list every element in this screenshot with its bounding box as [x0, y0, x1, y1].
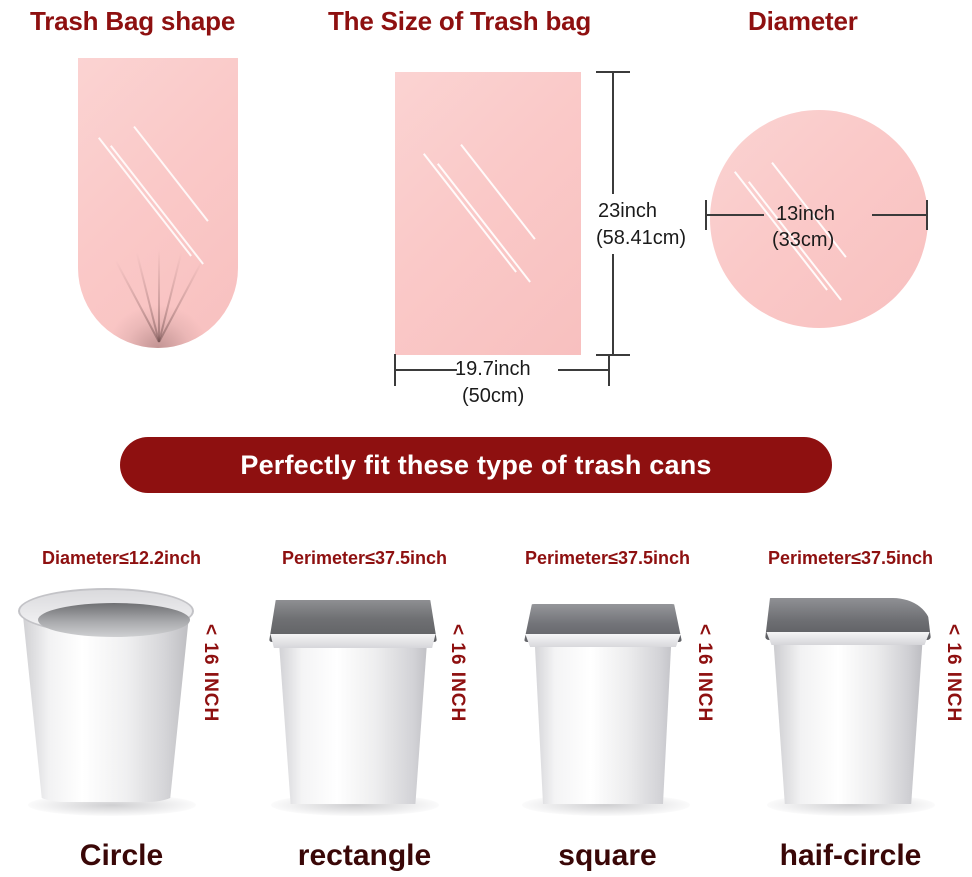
width-dimension-inch-label: 19.7inch	[455, 358, 531, 381]
can-circle-name: Circle	[0, 839, 243, 873]
diameter-dimension-line-left	[706, 214, 764, 216]
can-square-illustration	[506, 582, 706, 812]
width-dimension-cm-label: (50cm)	[462, 385, 524, 408]
can-column-circle: Diameter≤12.2inch < 16 INCH Circle	[0, 548, 243, 877]
can-column-rectangle: Perimeter≤37.5inch < 16 INCH rectangle	[243, 548, 486, 877]
height-dimension-tick-top	[596, 71, 630, 73]
can-half-circle-body	[769, 622, 927, 804]
heading-size-of-trash-bag: The Size of Trash bag	[328, 6, 591, 37]
diameter-dimension-tick-left	[705, 200, 707, 230]
can-square-lip	[522, 634, 684, 647]
can-half-circle-name: haif-circle	[729, 839, 972, 873]
trash-bag-flat-illustration	[395, 72, 581, 355]
can-half-circle-spec-label: Perimeter≤37.5inch	[729, 548, 972, 569]
can-rectangle-lip	[267, 634, 439, 648]
can-column-square: Perimeter≤37.5inch < 16 INCH square	[486, 548, 729, 877]
can-circle-height-label: < 16 INCH	[199, 624, 221, 722]
can-column-half-circle: Perimeter≤37.5inch < 16 INCH haif-circle	[729, 548, 972, 877]
height-dimension-cm-label: (58.41cm)	[596, 227, 686, 250]
can-rectangle-height-label: < 16 INCH	[446, 624, 468, 722]
can-rectangle-illustration	[255, 582, 455, 812]
can-square-spec-label: Perimeter≤37.5inch	[486, 548, 729, 569]
heading-diameter: Diameter	[748, 6, 858, 37]
bag-flat-highlight-line-1	[423, 153, 517, 272]
bag-flat-highlight-line-2	[437, 163, 531, 282]
can-square-name: square	[486, 839, 729, 873]
fit-banner-text: Perfectly fit these type of trash cans	[240, 450, 711, 481]
diameter-dimension-line-right	[872, 214, 928, 216]
can-circle-illustration	[12, 582, 212, 812]
can-rectangle-body	[273, 626, 433, 804]
can-rectangle-name: rectangle	[243, 839, 486, 873]
can-circle-spec-label: Diameter≤12.2inch	[0, 548, 243, 569]
height-dimension-line-lower	[612, 254, 614, 355]
can-square-height-label: < 16 INCH	[693, 624, 715, 722]
can-rectangle-spec-label: Perimeter≤37.5inch	[243, 548, 486, 569]
height-dimension-line-upper	[612, 72, 614, 194]
diameter-cm-label: (33cm)	[772, 229, 834, 252]
can-square-body	[528, 628, 678, 804]
diameter-inch-label: 13inch	[776, 203, 835, 226]
height-dimension-tick-bottom	[596, 354, 630, 356]
can-half-circle-illustration	[751, 582, 951, 812]
diameter-dimension-tick-right	[926, 200, 928, 230]
width-dimension-tick-right	[608, 354, 610, 386]
bag-crease-3	[158, 250, 160, 342]
can-half-circle-lip	[763, 632, 933, 645]
width-dimension-line-right	[558, 369, 610, 371]
trash-bag-round-bottom-illustration	[78, 58, 238, 348]
infographic-root: Trash Bag shape The Size of Trash bag Di…	[0, 0, 972, 877]
height-dimension-inch-label: 23inch	[598, 200, 657, 223]
width-dimension-line-left	[395, 369, 457, 371]
bag-highlight-line-3	[133, 126, 208, 221]
can-circle-rim	[18, 588, 194, 634]
bag-flat-highlight-line-3	[460, 144, 535, 240]
can-half-circle-height-label: < 16 INCH	[942, 624, 964, 722]
fit-banner: Perfectly fit these type of trash cans	[120, 437, 832, 493]
can-circle-opening	[38, 603, 190, 637]
heading-trash-bag-shape: Trash Bag shape	[30, 6, 235, 37]
width-dimension-tick-left	[394, 354, 396, 386]
